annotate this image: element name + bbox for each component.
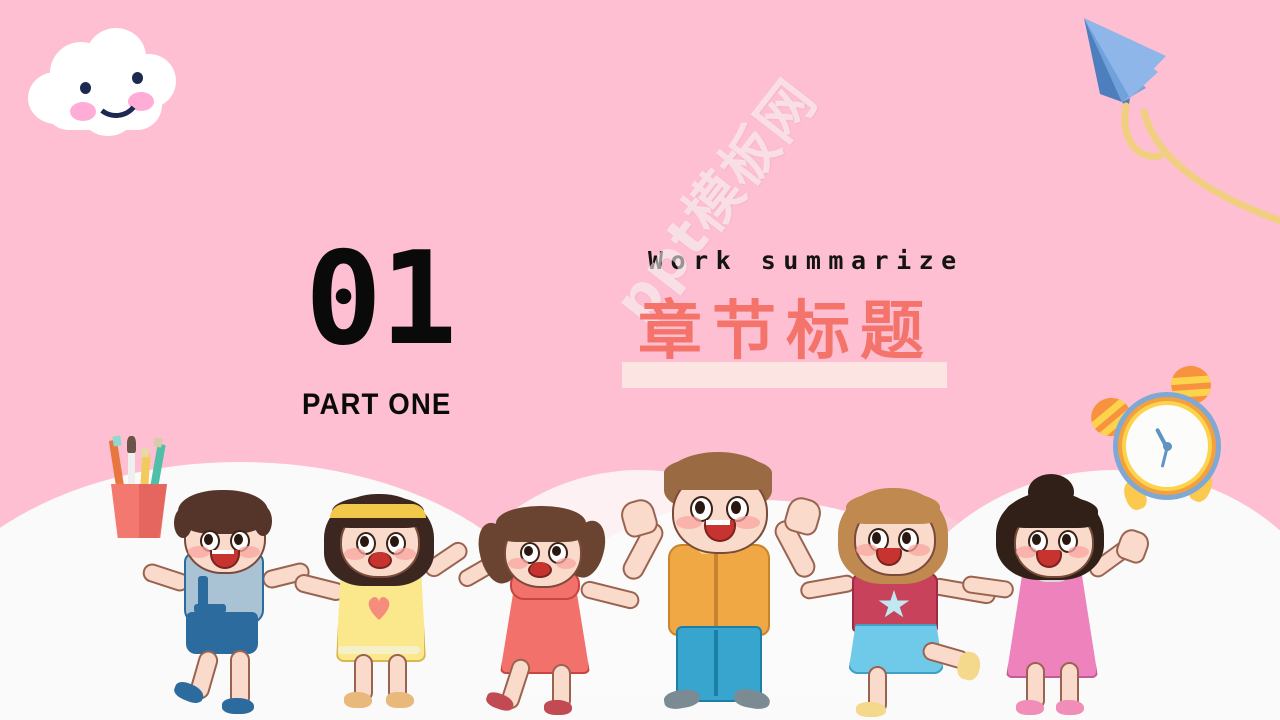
kid6-shoe-right xyxy=(1056,700,1084,715)
kid2-shoe-right xyxy=(386,692,414,708)
kid1-shorts xyxy=(186,612,258,654)
kid-girl-yellow-dress xyxy=(300,488,470,720)
paper-plane-icon xyxy=(1060,10,1280,230)
part-label: PART ONE xyxy=(302,388,451,422)
kid6-shoe-left xyxy=(1016,700,1044,715)
chinese-title: 章节标题 xyxy=(638,300,934,364)
kid5-shoe-left xyxy=(856,702,886,717)
kid4-shoe-right xyxy=(733,687,772,711)
kid2-shoe-left xyxy=(344,692,372,708)
kid3-shoe-right xyxy=(544,700,572,715)
section-number: 01 xyxy=(305,236,455,364)
kid-girl-red-dress xyxy=(470,498,640,720)
kid4-shoe-left xyxy=(663,687,702,711)
presentation-slide: 01 PART ONE Work summarize ppt模板网 章节标题 xyxy=(0,0,1280,720)
kid4-jacket xyxy=(668,544,770,636)
kid-girl-star-shirt xyxy=(818,486,998,720)
kid6-dress xyxy=(1006,572,1098,678)
kid2-headband xyxy=(330,504,426,518)
kid-boy-orange-jacket xyxy=(628,452,818,720)
clock-center-pin xyxy=(1163,442,1172,451)
kid-boy-blue-shirt xyxy=(150,492,310,720)
smiling-cloud-icon xyxy=(28,28,176,136)
cloud-eye-left xyxy=(80,82,91,94)
kid-girl-pink-dress xyxy=(978,480,1148,720)
cloud-cheek-left xyxy=(70,102,96,121)
cloud-eye-right xyxy=(132,72,143,84)
kid1-shoe-right xyxy=(222,698,254,714)
